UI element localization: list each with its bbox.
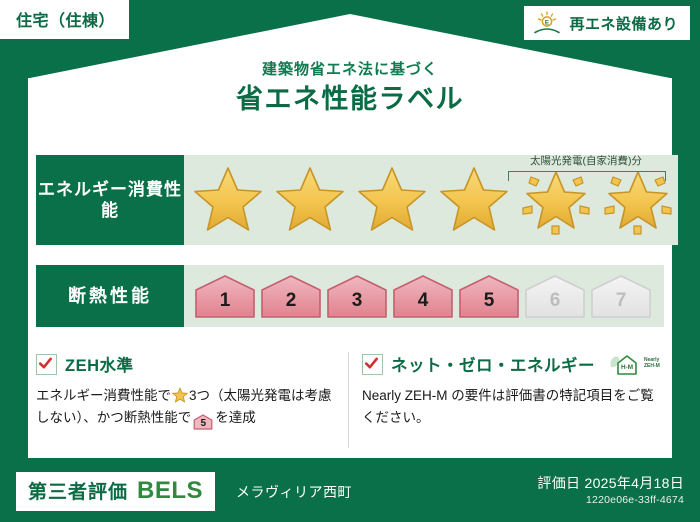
insulation-level-item: 3 [326, 273, 388, 319]
insulation-performance-row: 断熱性能 1 2 [36, 265, 664, 327]
solar-caption: 太陽光発電(自家消費)分 [500, 153, 672, 168]
inline-house-badge: 5 [193, 414, 213, 430]
energy-row-label: エネルギー消費性能 [36, 155, 184, 245]
insulation-level-item: 5 [458, 273, 520, 319]
inline-house-number: 5 [193, 414, 213, 433]
sun-renewable-icon: E [532, 11, 562, 35]
criterion-zeh-standard: ZEH水準 エネルギー消費性能で3つ（太陽光発電は考慮しない）、かつ断熱性能で5… [36, 352, 336, 430]
insulation-level-item: 2 [260, 273, 322, 319]
checkbox-net-zero-energy[interactable] [362, 354, 383, 375]
star-item [188, 155, 268, 245]
checkbox-zeh-standard[interactable] [36, 354, 57, 375]
renewable-equipment-chip: E 再エネ設備あり [524, 6, 690, 40]
criterion-description: Nearly ZEH-M の要件は評価書の特記項目をご覧ください。 [362, 385, 662, 429]
criterion-net-zero-energy: ネット・ゼロ・エネルギー H-M Nearly ZEH-M Nearly ZEH… [362, 352, 662, 429]
insulation-level-item: 4 [392, 273, 454, 319]
energy-performance-row: エネルギー消費性能 [36, 155, 664, 245]
star-item [270, 155, 350, 245]
solar-annotation: 太陽光発電(自家消費)分 [500, 155, 672, 245]
energy-performance-label: 住宅（住棟） E 再エネ設備あり 建築物省エネ法に基づく 省エネ性能ラベル [0, 0, 700, 522]
building-name: メラヴィリア西町 [236, 482, 352, 502]
page-title: 省エネ性能ラベル [0, 86, 700, 113]
insulation-level-number: 7 [616, 291, 627, 319]
insulation-level-number: 4 [418, 291, 429, 319]
inline-star-icon [172, 387, 188, 403]
building-type-chip-label: 住宅（住棟） [16, 13, 115, 30]
criterion-header: ZEH水準 [36, 352, 336, 376]
zeh-m-logo: H-M Nearly ZEH-M [608, 352, 660, 376]
label-title-block: 建築物省エネ法に基づく 省エネ性能ラベル [0, 62, 700, 113]
insulation-row-track: 1 2 3 4 [184, 265, 664, 327]
criterion-description: エネルギー消費性能で3つ（太陽光発電は考慮しない）、かつ断熱性能で5を達成 [36, 385, 336, 430]
insulation-level-item: 6 [524, 273, 586, 319]
criterion-title: ZEH水準 [65, 352, 134, 376]
bels-badge-en: BELS [137, 477, 203, 505]
building-type-chip: 住宅（住棟） [0, 0, 129, 39]
renewable-chip-label: 再エネ設備あり [569, 13, 678, 34]
criteria-divider [348, 352, 349, 448]
insulation-level-number: 2 [286, 291, 297, 319]
insulation-level-number: 1 [220, 291, 231, 319]
svg-text:H-M: H-M [621, 364, 633, 371]
insulation-level-item: 7 [590, 273, 652, 319]
criterion-title: ネット・ゼロ・エネルギー [391, 352, 595, 376]
zeh-logo-text-bottom: ZEH-M [644, 364, 660, 370]
bels-badge: 第三者評価 BELS [16, 472, 215, 511]
insulation-row-label: 断熱性能 [36, 265, 184, 327]
insulation-level-number: 6 [550, 291, 561, 319]
evaluation-id: 1220e06e-33ff-4674 [586, 494, 684, 506]
solar-bracket [508, 171, 666, 181]
energy-row-track: 太陽光発電(自家消費)分 [184, 155, 678, 245]
insulation-level-number: 3 [352, 291, 363, 319]
criterion-text-lead: エネルギー消費性能で [36, 388, 171, 403]
star-item [352, 155, 432, 245]
insulation-level-item: 1 [194, 273, 256, 319]
criterion-text-tail: を達成 [215, 410, 256, 425]
evaluation-date: 評価日 2025年4月18日 [537, 473, 684, 493]
star-rating: 太陽光発電(自家消費)分 [188, 155, 678, 245]
footer-bar: 第三者評価 BELS メラヴィリア西町 評価日 2025年4月18日 1220e… [0, 462, 700, 522]
svg-text:E: E [545, 19, 549, 26]
title-subtitle: 建築物省エネ法に基づく [0, 62, 700, 77]
bels-badge-jp: 第三者評価 [28, 477, 128, 504]
insulation-level-number: 5 [484, 291, 495, 319]
criterion-header: ネット・ゼロ・エネルギー H-M Nearly ZEH-M [362, 352, 662, 376]
insulation-level-scale: 1 2 3 4 [194, 273, 652, 319]
